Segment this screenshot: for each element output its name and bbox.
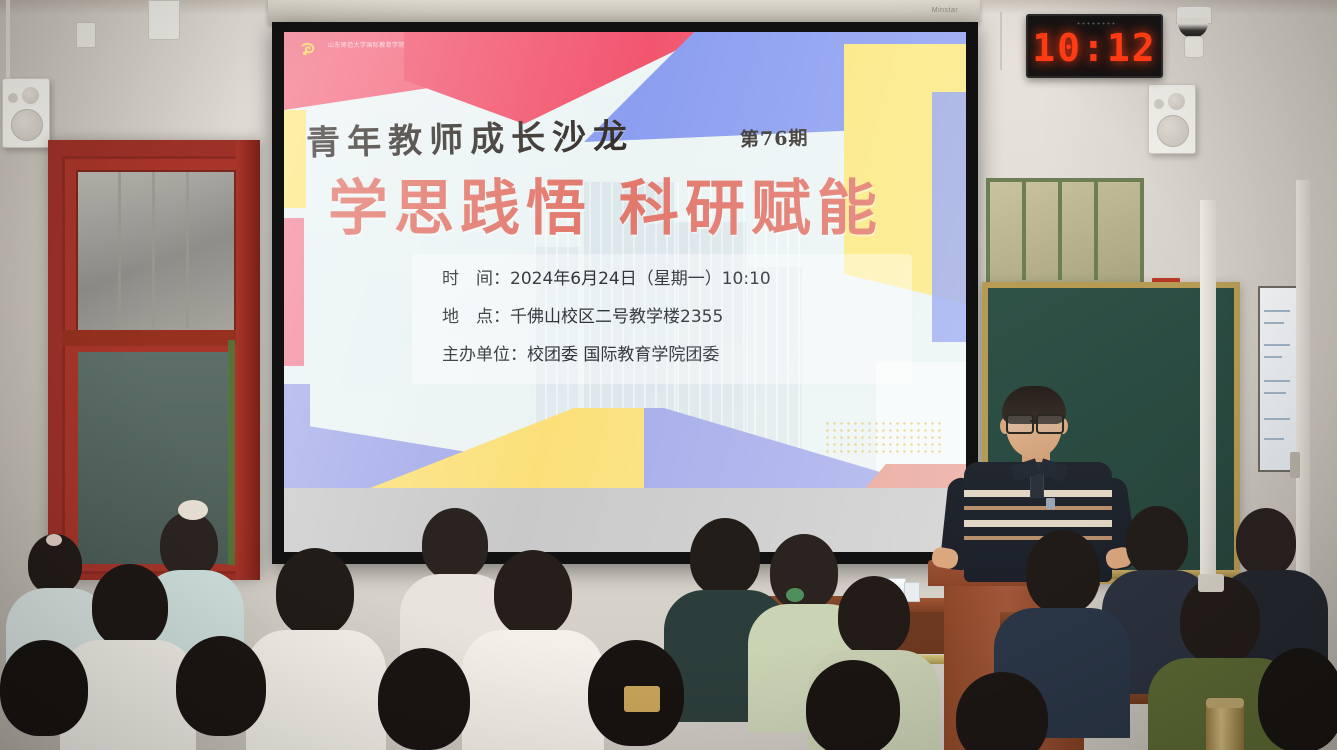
screen-brand-label: Minstar (905, 5, 985, 17)
audience-head (176, 636, 266, 736)
glasses-bridge (1030, 420, 1036, 422)
camera-housing (1184, 36, 1204, 58)
thermos-lid (1206, 698, 1244, 708)
audience-head (0, 640, 88, 736)
audience-head (838, 576, 910, 656)
audience-head (1126, 506, 1188, 576)
speaker-tweeter-icon (1168, 93, 1185, 110)
audience-seating (0, 490, 1337, 750)
window-mullion (1022, 182, 1026, 280)
audience-head (276, 548, 354, 636)
slide-accent-blue-right (932, 92, 966, 342)
audience-head (1236, 508, 1296, 576)
glasses-icon (1006, 414, 1034, 434)
clock-time-display: 10:12 (1028, 26, 1161, 70)
audience-head (770, 534, 838, 610)
door-window-glass (76, 170, 236, 334)
slide-info-card: 时 间：2024年6月24日（星期一）10:10 地 点：千佛山校区二号教学楼2… (412, 254, 912, 384)
speaker-tweeter-icon (22, 87, 39, 104)
wall-sensor-box (76, 22, 96, 48)
audience-body (246, 630, 386, 750)
slide-issue-number: 第76期 (740, 123, 809, 151)
audience-head (422, 508, 488, 580)
wall-junction-box (148, 0, 180, 40)
slide-logo-text: 山东师范大学国际教育学院 (328, 42, 508, 60)
screen-pull-cord[interactable] (1000, 12, 1002, 70)
slide-info-time: 时 间：2024年6月24日（星期一）10:10 (442, 264, 902, 288)
presentation-slide: 山东师范大学国际教育学院 青年教师成长沙龙 第76期 学思践悟 科研赋能 时 间… (284, 32, 966, 552)
audience-head (494, 550, 572, 636)
slide-title: 学思践悟 科研赋能 (328, 160, 928, 247)
wall-notice-poster (1258, 286, 1298, 472)
audience-head (1026, 530, 1100, 614)
audience-head (1258, 648, 1337, 750)
slide-accent-yellow-left (284, 110, 306, 208)
wall-speaker-left (2, 78, 50, 148)
hair-clip (1198, 574, 1224, 592)
window-mullion (1094, 182, 1098, 280)
digital-wall-clock: 10:12 (1026, 14, 1163, 78)
projection-screen: 山东师范大学国际教育学院 青年教师成长沙龙 第76期 学思践悟 科研赋能 时 间… (284, 32, 966, 552)
speaker-port-icon (1154, 99, 1164, 109)
slide-info-location: 地 点：千佛山校区二号教学楼2355 (442, 302, 902, 326)
slide-accent-pink-left (284, 218, 304, 366)
audience-head (806, 660, 900, 750)
projection-screen-housing (268, 0, 980, 24)
audience-head (160, 512, 218, 578)
hair-clip (624, 686, 660, 712)
hair-tie (786, 588, 804, 602)
door-handle[interactable] (1290, 452, 1300, 478)
speaker-port-icon (8, 93, 18, 103)
wall-speaker-right (1148, 84, 1196, 154)
slide-info-organizer: 主办单位：校团委 国际教育学院团委 (442, 340, 902, 364)
window-mullion (1058, 182, 1062, 280)
speaker-woofer-icon (11, 109, 43, 141)
hair-tie (178, 500, 208, 520)
door-window-mullion (152, 172, 155, 328)
door-mid-rail (62, 330, 246, 346)
wall-conduit (6, 0, 10, 78)
thermos-bottle (1206, 702, 1244, 750)
door-window-mullion (186, 172, 189, 328)
speaker-woofer-icon (1157, 115, 1189, 147)
university-logo-icon (298, 40, 320, 62)
classroom-photo: Minstar 山东师范大学国际教育学院 (0, 0, 1337, 750)
audience-head (690, 518, 760, 596)
classroom-window (986, 178, 1144, 292)
door-window-mullion (118, 172, 121, 328)
glasses-icon (1036, 414, 1064, 434)
hair-tie (46, 534, 62, 546)
audience-head (92, 564, 168, 648)
slide-dot-pattern (824, 420, 942, 454)
audience-head (378, 648, 470, 750)
audience-body (462, 630, 604, 750)
